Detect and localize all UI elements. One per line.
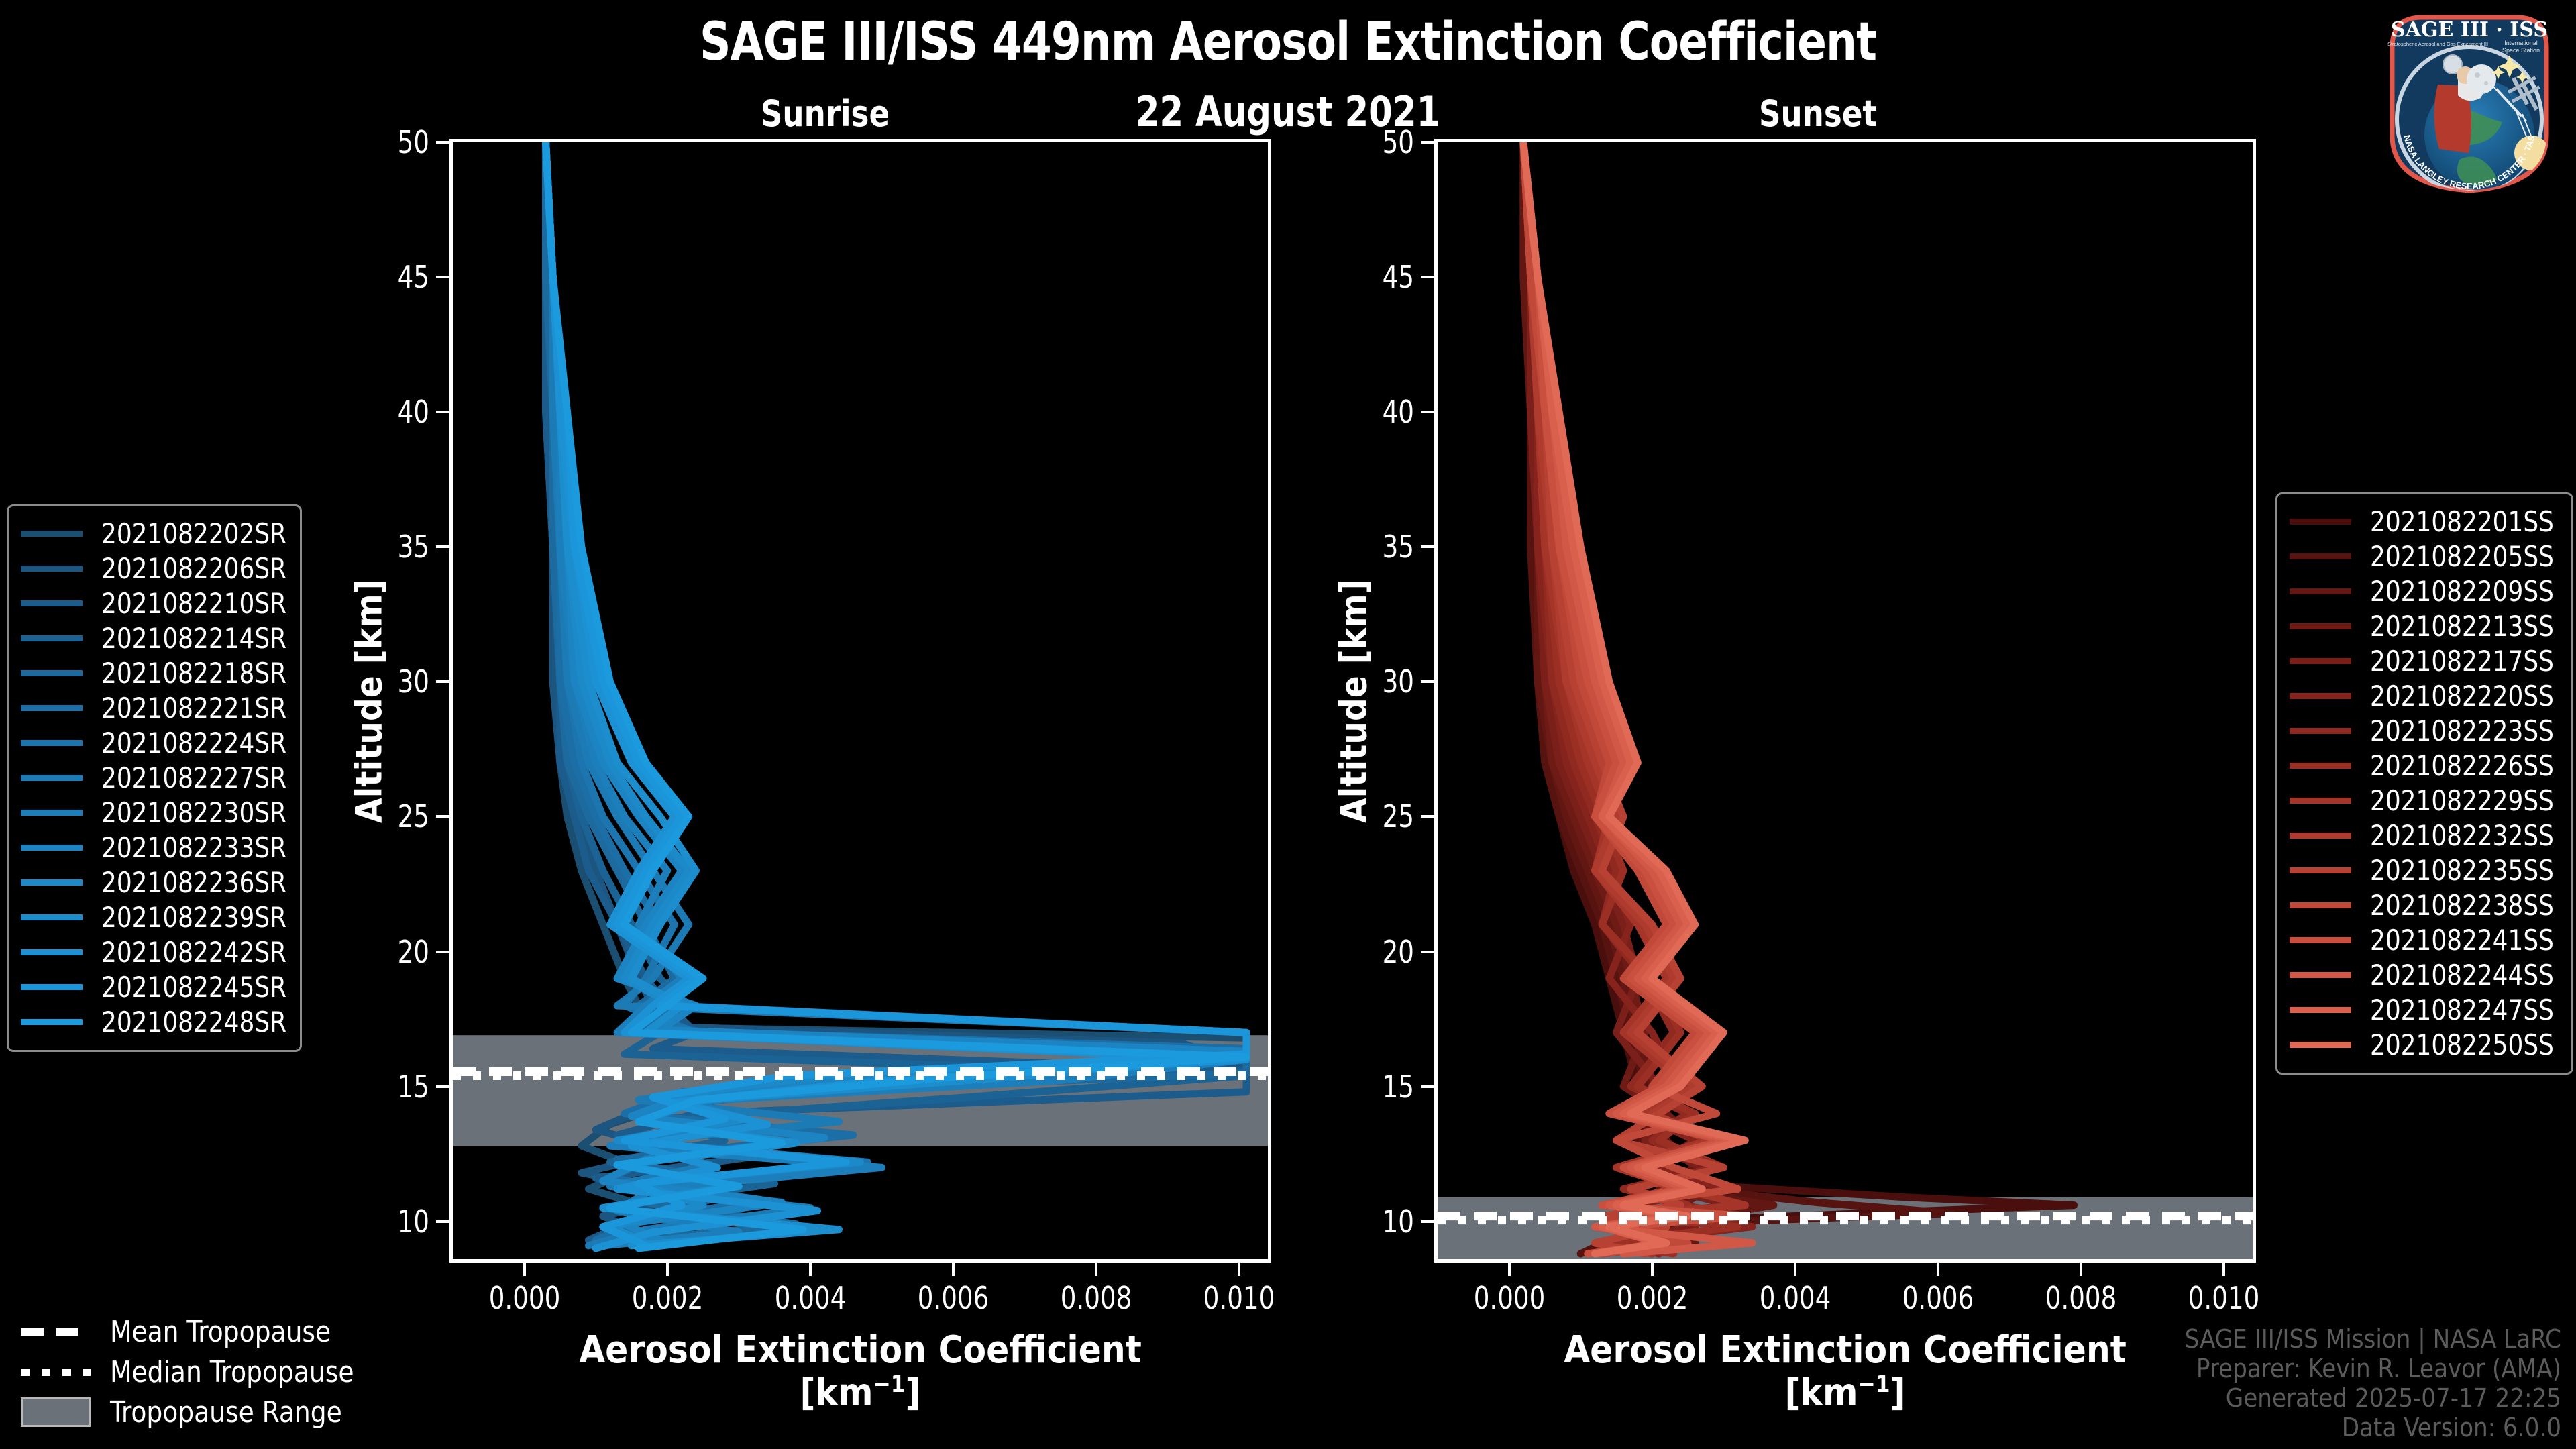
x-axis-tick-label: 0.006 xyxy=(918,1280,989,1316)
y-axis-tick-mark xyxy=(1421,815,1434,818)
x-axis-tick-mark xyxy=(2080,1263,2082,1276)
legend-item-2021082220ss[interactable]: 2021082220SS xyxy=(2290,678,2559,713)
legend-item-2021082227sr[interactable]: 2021082227SR xyxy=(21,760,288,795)
y-axis-tick-mark xyxy=(1421,545,1434,548)
footer-line-generated: Generated 2025-07-17 22:25 xyxy=(2185,1383,2561,1413)
legend-color-swatch xyxy=(21,600,83,606)
x-axis-tick-mark xyxy=(1238,1263,1240,1276)
footer-line-preparer: Preparer: Kevin R. Leavor (AMA) xyxy=(2185,1354,2561,1383)
dashed-line-icon xyxy=(19,1328,93,1336)
legend-item-2021082244ss[interactable]: 2021082244SS xyxy=(2290,957,2559,992)
legend-item-2021082230sr[interactable]: 2021082230SR xyxy=(21,795,288,830)
sunset-profile-canvas xyxy=(1438,142,2253,1259)
legend-color-swatch xyxy=(2290,1007,2351,1013)
legend-label: 2021082218SR xyxy=(101,657,286,690)
sage3-iss-mission-patch-logo: SAGE III · ISS Stratospheric Aerosol and… xyxy=(2372,4,2567,199)
x-axis-label-text: Aerosol Extinction Coefficient xyxy=(1434,1330,2256,1372)
y-axis-tick-label: 10 xyxy=(1342,1203,1414,1240)
legend-label: 2021082241SS xyxy=(2370,924,2554,957)
legend-color-swatch xyxy=(21,1019,83,1025)
y-axis-tick-mark xyxy=(436,951,449,953)
y-axis-tick-mark xyxy=(436,680,449,683)
y-axis-tick-mark xyxy=(1421,1085,1434,1088)
patch-subtitle-right-1: International xyxy=(2504,40,2538,46)
legend-color-swatch xyxy=(2290,553,2351,559)
legend-color-swatch xyxy=(21,845,83,851)
legend-color-swatch xyxy=(2290,867,2351,873)
footer-line-mission: SAGE III/ISS Mission | NASA LaRC xyxy=(2185,1324,2561,1354)
y-axis-tick-mark xyxy=(436,1085,449,1088)
legend-label: 2021082236SR xyxy=(101,866,286,899)
x-axis-tick-mark xyxy=(1794,1263,1796,1276)
legend-item-2021082210sr[interactable]: 2021082210SR xyxy=(21,586,288,621)
legend-item-median-tropopause: Median Tropopause xyxy=(19,1352,367,1392)
legend-label: 2021082247SS xyxy=(2370,994,2554,1026)
y-axis-tick-label: 50 xyxy=(1342,124,1414,160)
tropopause-legend: Mean Tropopause Median Tropopause Tropop… xyxy=(19,1311,367,1432)
legend-label: 2021082210SR xyxy=(101,587,286,620)
x-axis-tick-label: 0.008 xyxy=(2045,1280,2117,1316)
legend-item-2021082238ss[interactable]: 2021082238SS xyxy=(2290,888,2559,922)
legend-label: 2021082220SS xyxy=(2370,680,2554,712)
sunset-panel-title: Sunset xyxy=(1612,93,2024,135)
y-axis-tick-mark xyxy=(436,545,449,548)
sunrise-panel-title: Sunrise xyxy=(619,93,1031,135)
x-axis-tick-mark xyxy=(666,1263,669,1276)
x-axis-tick-label: 0.004 xyxy=(1760,1280,1831,1316)
legend-item-2021082205ss[interactable]: 2021082205SS xyxy=(2290,539,2559,574)
legend-label-median-tropopause: Median Tropopause xyxy=(110,1355,354,1389)
x-axis-tick-label: 0.000 xyxy=(488,1280,560,1316)
legend-label: 2021082227SR xyxy=(101,761,286,794)
legend-color-swatch xyxy=(21,635,83,641)
legend-item-2021082241ss[interactable]: 2021082241SS xyxy=(2290,922,2559,957)
legend-label: 2021082201SS xyxy=(2370,505,2554,538)
x-axis-tick-label: 0.006 xyxy=(1902,1280,1974,1316)
legend-color-swatch xyxy=(21,531,83,537)
x-axis-tick-mark xyxy=(2222,1263,2225,1276)
x-axis-tick-label: 0.000 xyxy=(1473,1280,1545,1316)
y-axis-tick-label: 15 xyxy=(357,1069,429,1105)
y-axis-tick-label: 50 xyxy=(357,124,429,160)
y-axis-tick-label: 45 xyxy=(1342,259,1414,295)
y-axis-tick-mark xyxy=(1421,276,1434,278)
sunrise-profile-canvas xyxy=(453,142,1268,1259)
date-title: 22 August 2021 xyxy=(103,87,2473,136)
x-axis-tick-mark xyxy=(523,1263,526,1276)
sunrise-y-axis-label: Altitude [km] xyxy=(348,560,390,842)
y-axis-tick-label: 10 xyxy=(357,1203,429,1240)
y-axis-tick-mark xyxy=(1421,141,1434,144)
legend-color-swatch xyxy=(2290,798,2351,804)
legend-color-swatch xyxy=(2290,1042,2351,1048)
legend-label: 2021082223SS xyxy=(2370,714,2554,747)
legend-label: 2021082202SR xyxy=(101,517,286,550)
legend-label: 2021082224SR xyxy=(101,727,286,759)
legend-item-2021082245sr[interactable]: 2021082245SR xyxy=(21,969,288,1004)
sunrise-x-axis-label: Aerosol Extinction Coefficient [km−1] xyxy=(449,1330,1271,1414)
legend-label: 2021082209SS xyxy=(2370,575,2554,608)
legend-color-swatch xyxy=(21,670,83,676)
legend-color-swatch xyxy=(21,740,83,746)
sunset-plot-area xyxy=(1434,139,2256,1263)
legend-color-swatch xyxy=(2290,588,2351,594)
x-axis-tick-mark xyxy=(1095,1263,1097,1276)
footer-attribution: SAGE III/ISS Mission | NASA LaRC Prepare… xyxy=(2185,1324,2561,1442)
patch-title: SAGE III · ISS xyxy=(2391,18,2548,42)
legend-color-swatch xyxy=(21,810,83,816)
legend-color-swatch xyxy=(2290,833,2351,839)
legend-item-2021082236sr[interactable]: 2021082236SR xyxy=(21,865,288,900)
x-axis-tick-label: 0.010 xyxy=(1203,1280,1275,1316)
legend-color-swatch xyxy=(21,879,83,885)
legend-item-2021082233sr[interactable]: 2021082233SR xyxy=(21,830,288,865)
x-axis-unit: [km−1] xyxy=(449,1372,1271,1414)
legend-item-2021082202sr[interactable]: 2021082202SR xyxy=(21,516,288,551)
legend-item-2021082235ss[interactable]: 2021082235SS xyxy=(2290,853,2559,888)
legend-color-swatch xyxy=(2290,728,2351,734)
legend-color-swatch xyxy=(2290,658,2351,664)
legend-item-2021082218sr[interactable]: 2021082218SR xyxy=(21,655,288,690)
x-axis-tick-label: 0.002 xyxy=(1616,1280,1688,1316)
legend-item-2021082221sr[interactable]: 2021082221SR xyxy=(21,690,288,725)
legend-label-mean-tropopause: Mean Tropopause xyxy=(110,1315,331,1349)
legend-item-2021082214sr[interactable]: 2021082214SR xyxy=(21,621,288,655)
legend-color-swatch xyxy=(2290,937,2351,943)
legend-item-2021082217ss[interactable]: 2021082217SS xyxy=(2290,643,2559,678)
legend-label: 2021082233SR xyxy=(101,831,286,864)
legend-color-swatch xyxy=(21,566,83,572)
y-axis-tick-mark xyxy=(436,141,449,144)
y-axis-tick-mark xyxy=(436,411,449,413)
x-axis-tick-label: 0.010 xyxy=(2188,1280,2260,1316)
sunrise-event-legend[interactable]: 2021082202SR2021082206SR2021082210SR2021… xyxy=(7,504,302,1052)
y-axis-tick-label: 20 xyxy=(1342,934,1414,970)
x-axis-tick-label: 0.002 xyxy=(631,1280,703,1316)
y-axis-tick-mark xyxy=(1421,951,1434,953)
x-axis-tick-mark xyxy=(952,1263,955,1276)
legend-item-2021082209ss[interactable]: 2021082209SS xyxy=(2290,574,2559,608)
page-title: SAGE III/ISS 449nm Aerosol Extinction Co… xyxy=(103,12,2473,72)
legend-label: 2021082229SS xyxy=(2370,784,2554,817)
y-axis-tick-mark xyxy=(436,815,449,818)
legend-label: 2021082242SR xyxy=(101,936,286,969)
legend-color-swatch xyxy=(2290,902,2351,908)
legend-color-swatch xyxy=(2290,693,2351,699)
legend-label: 2021082232SS xyxy=(2370,819,2554,852)
x-axis-tick-label: 0.008 xyxy=(1061,1280,1132,1316)
x-axis-tick-mark xyxy=(1937,1263,1939,1276)
y-axis-tick-mark xyxy=(436,276,449,278)
patch-subtitle-left: Stratospheric Aerosol and Gas Experiment… xyxy=(2387,41,2488,47)
legend-label: 2021082226SS xyxy=(2370,749,2554,782)
x-axis-tick-mark xyxy=(809,1263,812,1276)
x-axis-unit: [km−1] xyxy=(1434,1372,2256,1414)
legend-label: 2021082235SS xyxy=(2370,854,2554,887)
legend-item-2021082226ss[interactable]: 2021082226SS xyxy=(2290,748,2559,783)
legend-item-2021082201ss[interactable]: 2021082201SS xyxy=(2290,504,2559,539)
legend-item-2021082223ss[interactable]: 2021082223SS xyxy=(2290,713,2559,748)
legend-item-2021082239sr[interactable]: 2021082239SR xyxy=(21,900,288,934)
legend-label: 2021082206SR xyxy=(101,552,286,585)
sunset-x-axis-label: Aerosol Extinction Coefficient [km−1] xyxy=(1434,1330,2256,1414)
filled-band-icon xyxy=(19,1397,93,1427)
legend-item-2021082232ss[interactable]: 2021082232SS xyxy=(2290,818,2559,853)
legend-label: 2021082245SR xyxy=(101,971,286,1004)
x-axis-tick-mark xyxy=(1508,1263,1511,1276)
y-axis-tick-mark xyxy=(436,1220,449,1223)
legend-label: 2021082238SS xyxy=(2370,889,2554,922)
legend-label: 2021082230SR xyxy=(101,796,286,829)
legend-label: 2021082217SS xyxy=(2370,645,2554,678)
legend-color-swatch xyxy=(21,984,83,990)
legend-item-2021082250ss[interactable]: 2021082250SS xyxy=(2290,1027,2559,1062)
y-axis-tick-mark xyxy=(1421,1220,1434,1223)
sunset-y-axis-label: Altitude [km] xyxy=(1333,560,1375,842)
x-axis-tick-mark xyxy=(1651,1263,1654,1276)
legend-label-tropopause-range: Tropopause Range xyxy=(110,1395,342,1430)
legend-label: 2021082214SR xyxy=(101,622,286,655)
legend-color-swatch xyxy=(2290,763,2351,769)
legend-item-2021082248sr[interactable]: 2021082248SR xyxy=(21,1004,288,1039)
sunset-event-legend[interactable]: 2021082201SS2021082205SS2021082209SS2021… xyxy=(2275,492,2573,1075)
legend-item-2021082213ss[interactable]: 2021082213SS xyxy=(2290,608,2559,643)
legend-color-swatch xyxy=(2290,519,2351,525)
dotted-line-icon xyxy=(19,1368,93,1376)
legend-item-2021082224sr[interactable]: 2021082224SR xyxy=(21,725,288,760)
legend-label: 2021082205SS xyxy=(2370,540,2554,573)
legend-label: 2021082244SS xyxy=(2370,959,2554,991)
legend-color-swatch xyxy=(2290,972,2351,978)
legend-label: 2021082250SS xyxy=(2370,1028,2554,1061)
legend-color-swatch xyxy=(21,775,83,781)
legend-item-tropopause-range: Tropopause Range xyxy=(19,1392,367,1432)
footer-line-version: Data Version: 6.0.0 xyxy=(2185,1413,2561,1442)
legend-item-2021082229ss[interactable]: 2021082229SS xyxy=(2290,783,2559,818)
legend-color-swatch xyxy=(21,949,83,955)
y-axis-tick-mark xyxy=(1421,411,1434,413)
legend-color-swatch xyxy=(21,705,83,711)
y-axis-tick-label: 40 xyxy=(1342,394,1414,430)
legend-item-2021082242sr[interactable]: 2021082242SR xyxy=(21,934,288,969)
y-axis-tick-label: 20 xyxy=(357,934,429,970)
patch-subtitle-right-2: Space Station xyxy=(2502,47,2540,54)
y-axis-tick-label: 45 xyxy=(357,259,429,295)
x-axis-tick-label: 0.004 xyxy=(775,1280,847,1316)
legend-color-swatch xyxy=(21,914,83,920)
legend-label: 2021082221SR xyxy=(101,692,286,724)
legend-item-2021082206sr[interactable]: 2021082206SR xyxy=(21,551,288,586)
y-axis-tick-label: 40 xyxy=(357,394,429,430)
legend-item-mean-tropopause: Mean Tropopause xyxy=(19,1311,367,1352)
legend-item-2021082247ss[interactable]: 2021082247SS xyxy=(2290,992,2559,1027)
sunrise-plot-area xyxy=(449,139,1271,1263)
x-axis-label-text: Aerosol Extinction Coefficient xyxy=(449,1330,1271,1372)
legend-label: 2021082213SS xyxy=(2370,610,2554,643)
legend-label: 2021082239SR xyxy=(101,901,286,934)
y-axis-tick-label: 15 xyxy=(1342,1069,1414,1105)
y-axis-tick-mark xyxy=(1421,680,1434,683)
legend-label: 2021082248SR xyxy=(101,1006,286,1038)
legend-color-swatch xyxy=(2290,623,2351,629)
